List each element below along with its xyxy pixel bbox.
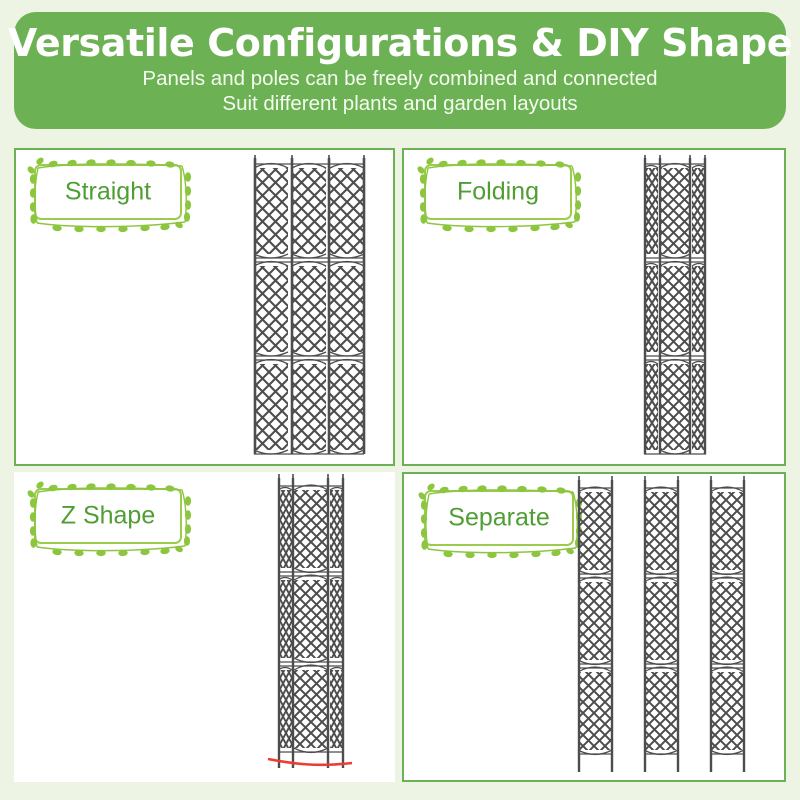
trellis-illustration-z-shape	[256, 472, 386, 780]
config-cell-z-shape[interactable]: Z Shape	[14, 472, 395, 782]
label-text-folding: Folding	[426, 178, 570, 207]
label-badge-folding: Folding	[424, 164, 572, 220]
trellis-illustration-folding	[624, 150, 744, 466]
label-badge-straight: Straight	[34, 164, 182, 220]
label-badge-separate: Separate	[424, 490, 574, 546]
ground-level-marker	[268, 759, 352, 765]
label-badge-z-shape: Z Shape	[34, 488, 182, 544]
header-banner: Versatile Configurations & DIY Shape Pan…	[14, 12, 786, 129]
header-subtitle-line-1: Panels and poles can be freely combined …	[142, 66, 657, 91]
label-text-z-shape: Z Shape	[36, 502, 180, 531]
trellis-illustration-separate	[572, 472, 786, 782]
configuration-grid: Straight	[0, 146, 800, 786]
header-subtitle-line-2: Suit different plants and garden layouts	[222, 91, 577, 116]
label-text-straight: Straight	[36, 178, 180, 207]
config-cell-folding[interactable]: Folding	[402, 148, 786, 466]
page-title: Versatile Configurations & DIY Shape	[8, 20, 792, 66]
config-cell-straight[interactable]: Straight	[14, 148, 395, 466]
trellis-illustration-straight	[230, 150, 380, 466]
config-cell-separate[interactable]: Separate	[402, 472, 786, 782]
label-text-separate: Separate	[426, 504, 572, 533]
